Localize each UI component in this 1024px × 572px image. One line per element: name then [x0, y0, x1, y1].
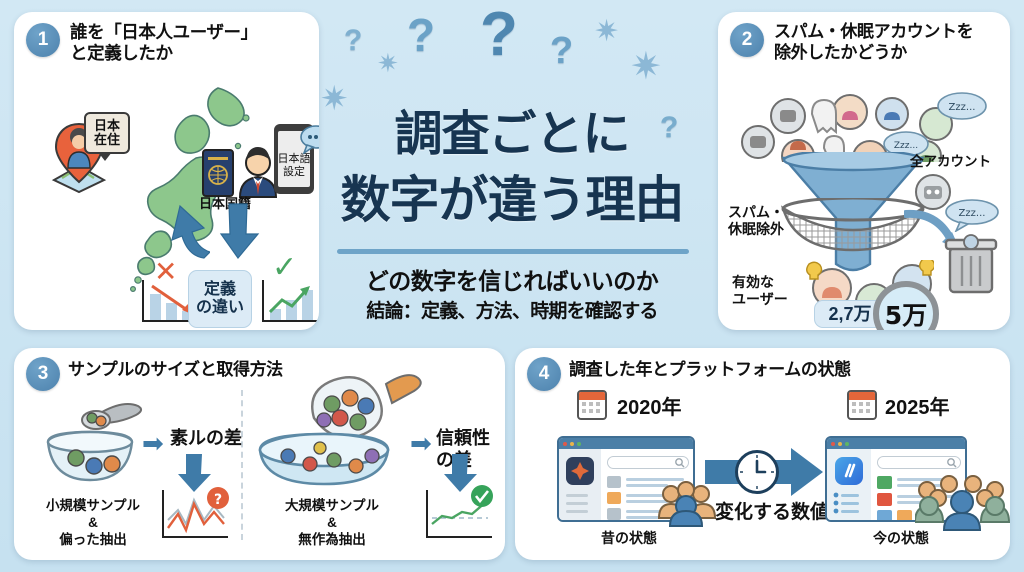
main-title-line-2: 数字が違う理由	[322, 160, 702, 232]
clock-icon	[735, 450, 779, 494]
svg-text:設定: 設定	[283, 164, 305, 178]
large-sample-basin-icon	[254, 374, 424, 499]
chat-bubble-icon	[299, 124, 319, 154]
new-app-glyph-icon	[841, 462, 859, 480]
left-caption: 昔の状態	[601, 530, 657, 547]
content-thumb-red	[877, 493, 892, 506]
definition-difference-chip: 定義 の違い	[188, 270, 252, 328]
magnifier-icon: 5万	[870, 280, 956, 330]
account-cluster-icons: Zzz... Zzz...	[740, 84, 990, 162]
panel-title: スパム・休眠アカウントを 除外したかどうか	[774, 22, 1006, 63]
maximize-dot-icon	[577, 442, 581, 446]
sidebar-line	[841, 502, 859, 505]
close-dot-icon	[831, 442, 835, 446]
main-title-line-1: 調査ごとに	[322, 94, 702, 164]
center-title-block: ? ? ? ? ? ✷ ✷ ✷ ✷ 調査ごとに 数字が違う理由 どの数字を信じれ…	[322, 0, 702, 345]
subtitle: どの数字を信じればいいのか	[322, 262, 702, 296]
maximize-dot-icon	[845, 442, 849, 446]
panel-spam-exclusion: 2 スパム・休眠アカウントを 除外したかどうか	[718, 12, 1010, 330]
content-thumb	[607, 508, 621, 520]
svg-text:Zzz...: Zzz...	[894, 141, 918, 151]
gear-icon: ✷	[630, 48, 662, 86]
question-mark-icon: ?	[407, 12, 435, 58]
infographic-canvas: ? ? ? ? ? ✷ ✷ ✷ ✷ 調査ごとに 数字が違う理由 どの数字を信じれ…	[0, 0, 1024, 572]
content-thumb	[607, 476, 621, 488]
left-year-label: 2020年	[617, 396, 682, 420]
panel-sample-size: 3 サンプルのサイズと取得方法 ➡ 素ルの差 小規模サンプル & 偏った抽出	[14, 348, 505, 560]
question-mark-icon: ?	[480, 4, 518, 66]
panel-title: 誰を「日本人ユーザー」 と定義したか	[70, 22, 314, 65]
valid-users-label: 有効な ユーザー	[732, 274, 788, 308]
window-titlebar	[827, 438, 965, 449]
right-caption: 今の状態	[873, 530, 929, 547]
close-dot-icon	[563, 442, 567, 446]
sidebar-line	[841, 510, 859, 513]
content-thumb-orange	[897, 510, 912, 522]
bullet-dots-icon	[833, 492, 839, 518]
svg-text:?: ?	[214, 492, 222, 508]
stable-chart	[426, 490, 492, 538]
sidebar-line	[566, 494, 588, 497]
minimize-dot-icon	[838, 442, 842, 446]
gear-icon: ✷	[594, 17, 619, 47]
sleep-bubble-icon: Zzz...	[942, 198, 1002, 232]
gear-icon: ✷	[377, 50, 399, 76]
up-left-arrow-icon	[164, 202, 210, 262]
calendar-icon	[577, 390, 607, 420]
sidebar-line	[566, 502, 588, 505]
minimize-dot-icon	[570, 442, 574, 446]
noisy-chart: ?	[162, 490, 228, 538]
all-accounts-label: 全アカウント	[910, 154, 991, 170]
search-icon	[675, 458, 685, 468]
spam-excluded-label: スパム・ 休眠除外	[728, 204, 784, 238]
cross-mark: ✕	[154, 255, 177, 289]
check-mark: ✓	[272, 250, 297, 286]
panel-title: 調査した年とプラットフォームの状態	[569, 360, 851, 381]
middle-label: 変化する数値	[715, 502, 829, 525]
panel-title: サンプルのサイズと取得方法	[68, 360, 283, 381]
svg-text:Zzz...: Zzz...	[959, 208, 986, 219]
sidebar-line	[841, 494, 859, 497]
content-thumb	[607, 492, 621, 504]
title-divider	[337, 249, 689, 254]
panel-divider	[241, 390, 243, 540]
content-thumb-blue	[877, 510, 892, 522]
window-titlebar	[559, 438, 693, 449]
svg-text:Zzz...: Zzz...	[949, 102, 976, 113]
down-arrow-icon	[219, 202, 263, 260]
right-caption: 大規模サンプル & 無作為抽出	[272, 498, 392, 549]
panel-number-badge: 4	[527, 357, 561, 391]
panel-number-badge: 1	[26, 23, 60, 57]
sidebar-line	[566, 510, 588, 513]
content-thumb-green	[877, 476, 892, 489]
left-caption: 小規模サンプル & 偏った抽出	[38, 498, 148, 549]
search-icon	[947, 458, 957, 468]
right-year-label: 2025年	[885, 396, 950, 420]
panel-number-badge: 3	[26, 357, 60, 391]
passport-icon	[200, 147, 238, 199]
right-arrow-icon: ➡	[142, 430, 164, 456]
old-app-glyph-icon	[570, 461, 590, 481]
conclusion-text: 結論：定義、方法、時期を確認する	[322, 296, 702, 323]
panel-definition: 1 誰を「日本人ユーザー」 と定義したか 日本 在住	[14, 12, 319, 330]
svg-text:5万: 5万	[885, 301, 927, 330]
rising-chart	[262, 280, 319, 322]
panel-number-badge: 2	[730, 23, 764, 57]
large-user-group-icon	[915, 474, 1010, 532]
panel-survey-year: 4 調査した年とプラットフォームの状態 2020年	[515, 348, 1010, 560]
question-mark-icon: ?	[550, 32, 573, 70]
question-mark-icon: ?	[344, 26, 362, 56]
calendar-icon	[847, 390, 877, 420]
residence-callout: 日本 在住	[84, 112, 130, 154]
left-result-label: 素ルの差	[170, 428, 242, 450]
right-arrow-icon: ➡	[410, 430, 432, 456]
